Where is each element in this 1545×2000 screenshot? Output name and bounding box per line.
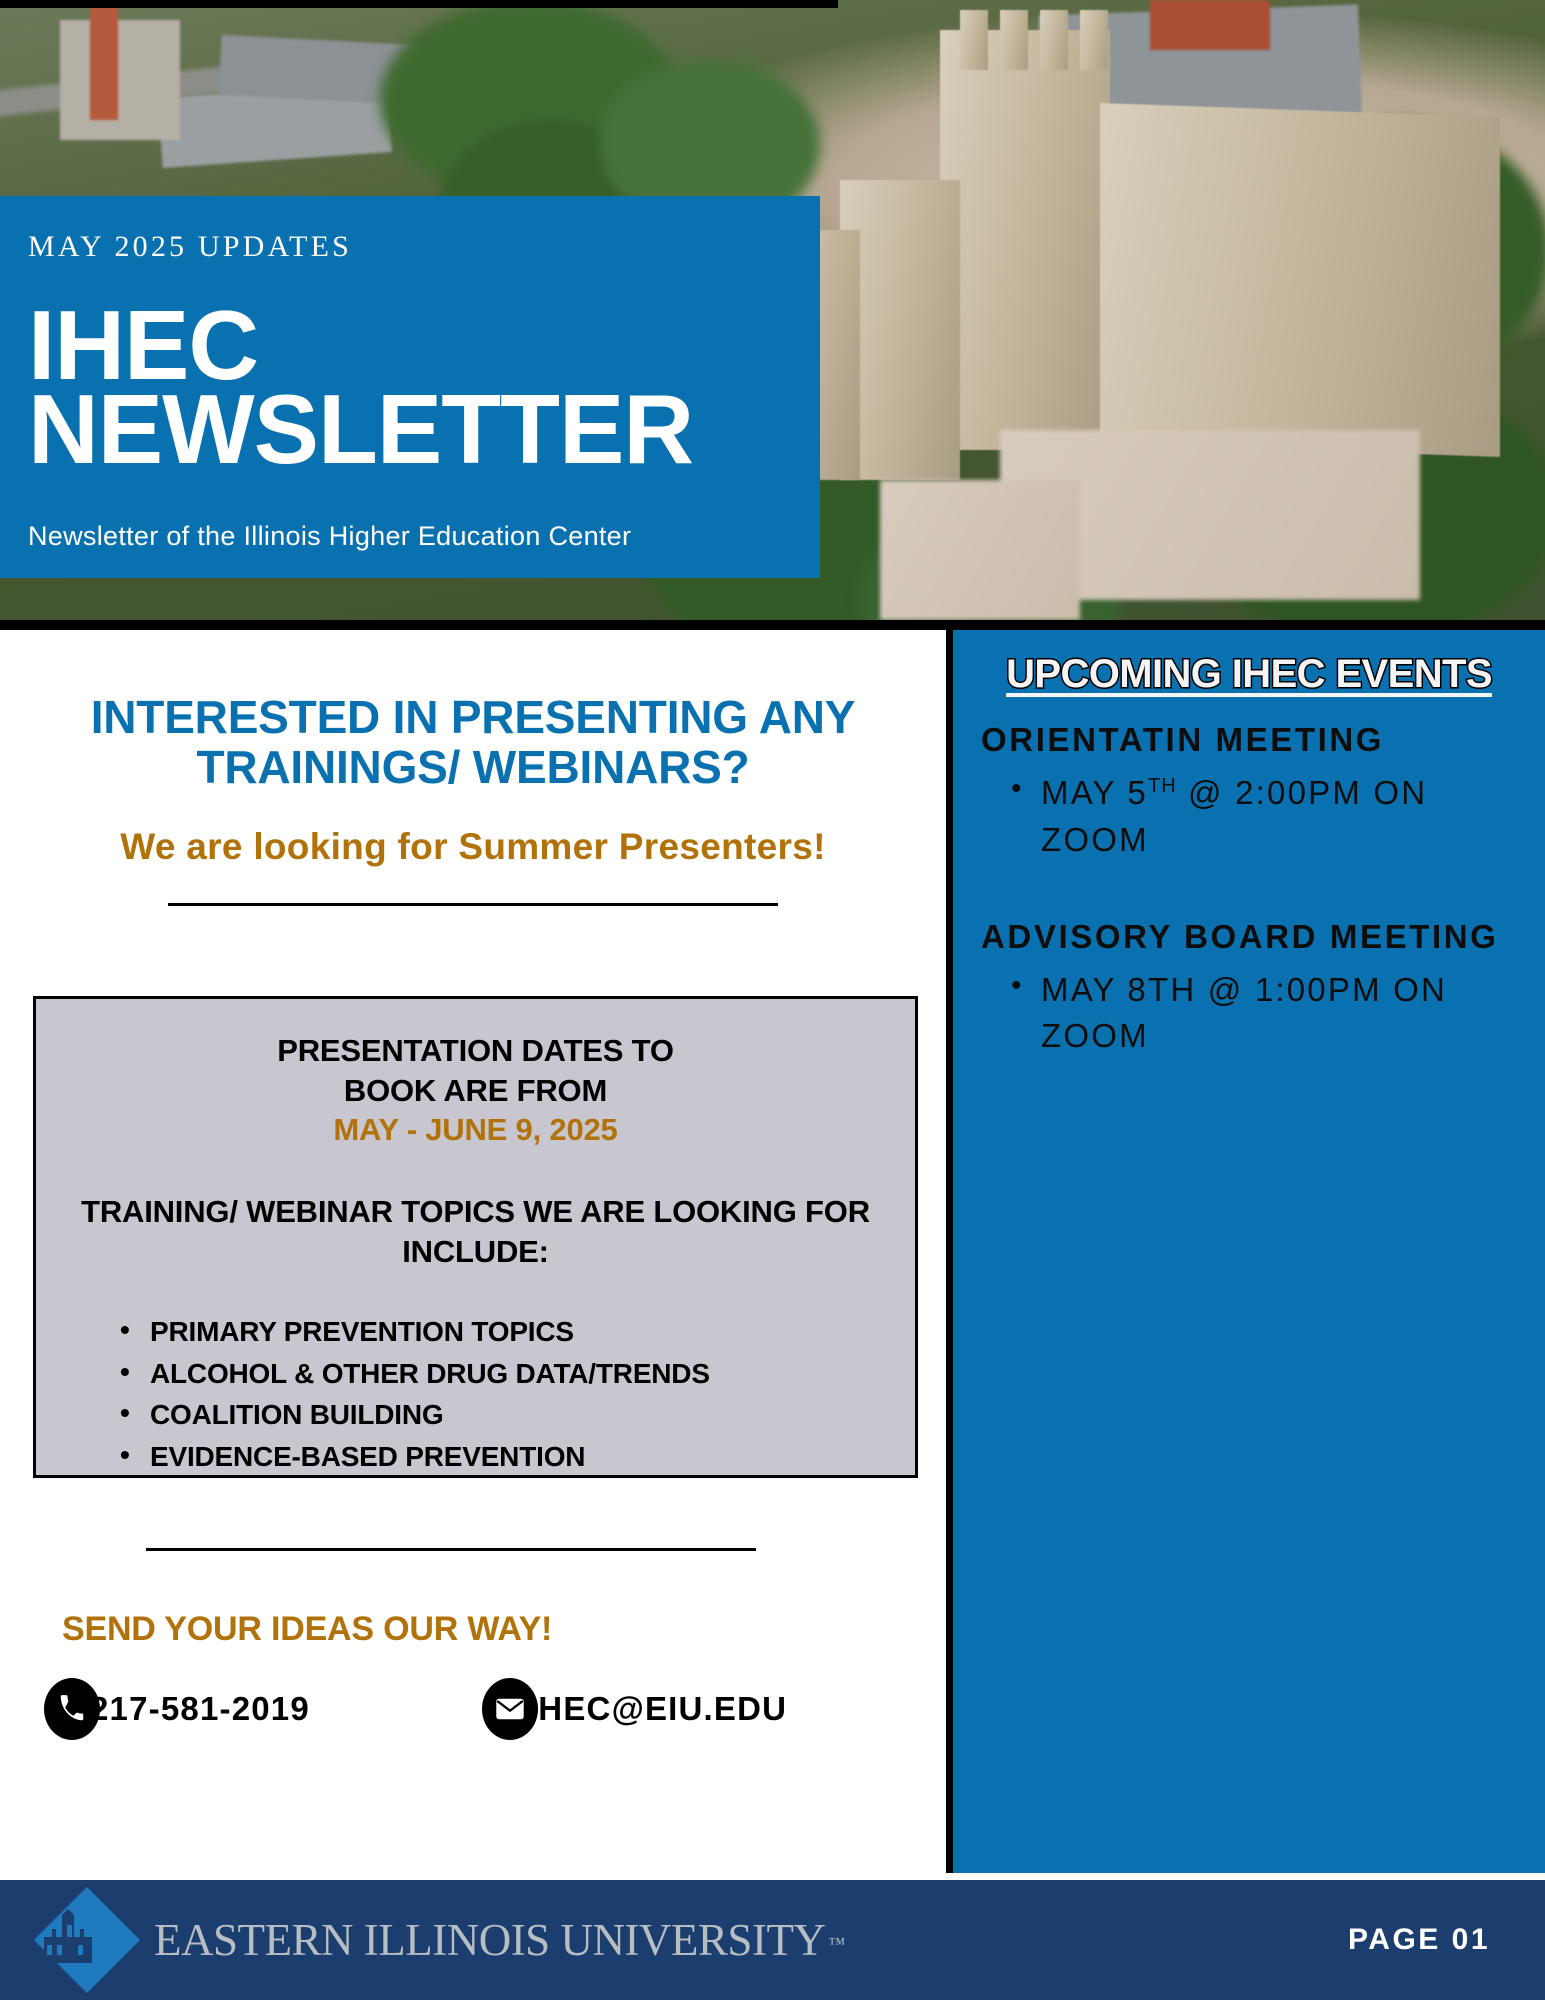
left-content-column: INTERESTED IN PRESENTING ANY TRAININGS/ …	[0, 630, 946, 1880]
hero-photo-banner: MAY 2025 UPDATES IHEC NEWSLETTER Newslet…	[0, 0, 1545, 630]
box-line-1: PRESENTATION DATES TO	[76, 1031, 875, 1071]
photo-walkway	[880, 480, 1080, 620]
email-contact[interactable]: IHEC@EIU.EDU	[482, 1678, 787, 1740]
topics-list: PRIMARY PREVENTION TOPICS ALCOHOL & OTHE…	[116, 1311, 875, 1477]
body-area: INTERESTED IN PRESENTING ANY TRAININGS/ …	[0, 630, 1545, 1880]
hero-bottom-rule	[0, 620, 1545, 630]
send-ideas-callout: SEND YOUR IDEAS OUR WAY!	[62, 1610, 552, 1649]
university-name: EASTERN ILLINOIS UNIVERSITY	[154, 1915, 825, 1965]
page-footer: EASTERN ILLINOIS UNIVERSITY™ PAGE 01	[0, 1880, 1545, 2000]
photo-building-tower	[940, 30, 1110, 450]
list-item: COALITION BUILDING	[116, 1394, 875, 1435]
event-item: ORIENTATIN MEETING MAY 5TH @ 2:00PM ON Z…	[969, 719, 1529, 864]
phone-number: 217-581-2019	[90, 1690, 310, 1728]
photo-smokestack	[90, 0, 118, 120]
page-number: PAGE 01	[1348, 1923, 1490, 1957]
phone-contact[interactable]: 217-581-2019	[44, 1678, 310, 1740]
photo-crenellation	[960, 10, 988, 70]
email-address: IHEC@EIU.EDU	[528, 1690, 787, 1728]
box-date-range: MAY - JUNE 9, 2025	[76, 1110, 875, 1150]
column-divider-rule	[946, 630, 953, 1873]
hero-top-rule	[0, 0, 838, 8]
photo-crenellation	[1040, 10, 1068, 70]
eiu-wordmark: EASTERN ILLINOIS UNIVERSITY™	[152, 1914, 845, 1966]
event-detail: MAY 8TH @ 1:00PM ON ZOOM	[969, 967, 1529, 1061]
presentation-info-box: PRESENTATION DATES TO BOOK ARE FROM MAY …	[33, 996, 918, 1478]
photo-roof	[60, 20, 180, 140]
photo-roof	[1150, 0, 1270, 50]
box-topics-heading: TRAINING/ WEBINAR TOPICS WE ARE LOOKING …	[76, 1192, 875, 1271]
newsletter-page: MAY 2025 UPDATES IHEC NEWSLETTER Newslet…	[0, 0, 1545, 2000]
contact-row: 217-581-2019 IHEC@EIU.EDU	[38, 1678, 918, 1740]
title-panel: MAY 2025 UPDATES IHEC NEWSLETTER Newslet…	[0, 196, 820, 578]
upcoming-events-panel: UPCOMING IHEC EVENTS ORIENTATIN MEETING …	[953, 630, 1545, 1873]
event-detail-pre: MAY 5	[1041, 774, 1148, 811]
newsletter-title-line2: NEWSLETTER	[28, 388, 820, 470]
main-heading: INTERESTED IN PRESENTING ANY TRAININGS/ …	[48, 693, 898, 792]
divider-rule-bottom	[146, 1548, 756, 1551]
envelope-icon	[482, 1678, 538, 1740]
divider-rule-top	[168, 903, 778, 906]
trademark-symbol: ™	[828, 1934, 845, 1953]
events-panel-title: UPCOMING IHEC EVENTS	[969, 652, 1529, 697]
eiu-logo-icon	[22, 1885, 152, 1995]
photo-crenellation	[1000, 10, 1028, 70]
box-line-2: BOOK ARE FROM	[76, 1071, 875, 1111]
issue-kicker: MAY 2025 UPDATES	[28, 230, 820, 264]
list-item: PRIMARY PREVENTION TOPICS	[116, 1311, 875, 1352]
event-detail-pre: MAY 8TH	[1041, 971, 1196, 1008]
event-name: ORIENTATIN MEETING	[969, 719, 1529, 762]
phone-icon	[44, 1678, 100, 1740]
sub-heading: We are looking for Summer Presenters!	[48, 824, 898, 870]
list-item: EVIDENCE-BASED PREVENTION	[116, 1436, 875, 1477]
newsletter-tagline: Newsletter of the Illinois Higher Educat…	[28, 521, 820, 552]
event-detail-ordinal: TH	[1148, 775, 1177, 797]
photo-crenellation	[1080, 10, 1108, 70]
event-name: ADVISORY BOARD MEETING	[969, 916, 1529, 959]
list-item: ALCOHOL & OTHER DRUG DATA/TRENDS	[116, 1353, 875, 1394]
event-item: ADVISORY BOARD MEETING MAY 8TH @ 1:00PM …	[969, 916, 1529, 1061]
event-detail: MAY 5TH @ 2:00PM ON ZOOM	[969, 770, 1529, 864]
photo-building-wing	[1100, 103, 1500, 457]
